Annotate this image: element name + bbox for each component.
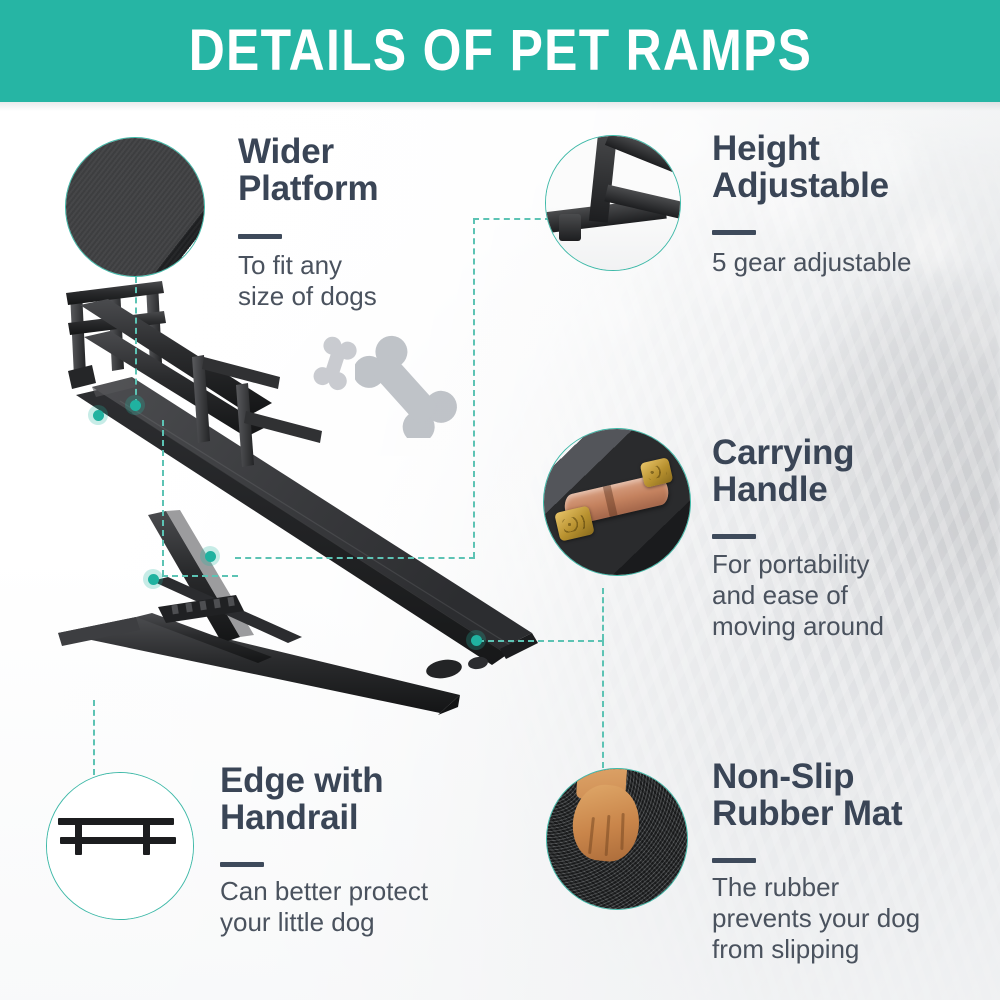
connector-non-slip-down (602, 640, 604, 768)
feature-divider-wider-platform (238, 234, 282, 239)
callout-circle-edge-handrail (46, 772, 194, 920)
anchor-dot-wider-platform (125, 395, 145, 415)
feature-title-height-adjustable: Height Adjustable (712, 130, 889, 204)
bone-large-icon (355, 330, 467, 438)
feature-divider-non-slip-mat (712, 858, 756, 863)
feature-title-wider-platform: Wider Platform (238, 133, 378, 207)
feature-divider-carrying-handle (712, 534, 756, 539)
feature-desc-wider-platform: To fit any size of dogs (238, 250, 377, 312)
anchor-dot-height-adjustable (200, 546, 220, 566)
feature-desc-non-slip-mat: The rubber prevents your dog from slippi… (712, 872, 920, 966)
feature-divider-edge-handrail (220, 862, 264, 867)
anchor-dot-deck-foot (466, 630, 486, 650)
callout-circle-wider-platform (65, 137, 205, 277)
handrail-line-art-icon (47, 773, 193, 919)
infographic-canvas: DETAILS OF PET RAMPS (0, 0, 1000, 1000)
feature-title-carrying-handle: Carrying Handle (712, 434, 854, 508)
brass-bracket-right (639, 457, 673, 488)
callout-circle-carrying-handle (543, 428, 691, 576)
feature-title-non-slip-mat: Non-Slip Rubber Mat (712, 758, 903, 832)
feature-desc-edge-handrail: Can better protect your little dog (220, 876, 428, 938)
callout-circle-non-slip-mat (546, 768, 688, 910)
callout-circle-height-adjustable (545, 135, 681, 271)
header-banner: DETAILS OF PET RAMPS (0, 0, 1000, 102)
ramp-base-frame (58, 617, 460, 715)
feature-title-edge-handrail: Edge with Handrail (220, 762, 383, 836)
feature-desc-height-adjustable: 5 gear adjustable (712, 247, 911, 278)
feature-desc-carrying-handle: For portability and ease of moving aroun… (712, 549, 884, 643)
frame-joint-closeup-icon (546, 136, 680, 270)
connector-height-adjustable-top (473, 218, 551, 220)
brass-bracket-left (554, 506, 595, 542)
header-shadow (0, 102, 1000, 111)
dog-paw-on-rubber-mat-icon (547, 769, 687, 909)
anchor-dot-handrail (88, 405, 108, 425)
platform-closeup-icon (66, 138, 204, 276)
connector-carrying-handle-down (602, 588, 604, 640)
page-title: DETAILS OF PET RAMPS (188, 22, 811, 80)
leather-handle-closeup-icon (544, 429, 690, 575)
dog-paw (567, 768, 645, 870)
anchor-dot-support-leg (143, 569, 163, 589)
feature-divider-height-adjustable (712, 230, 756, 235)
